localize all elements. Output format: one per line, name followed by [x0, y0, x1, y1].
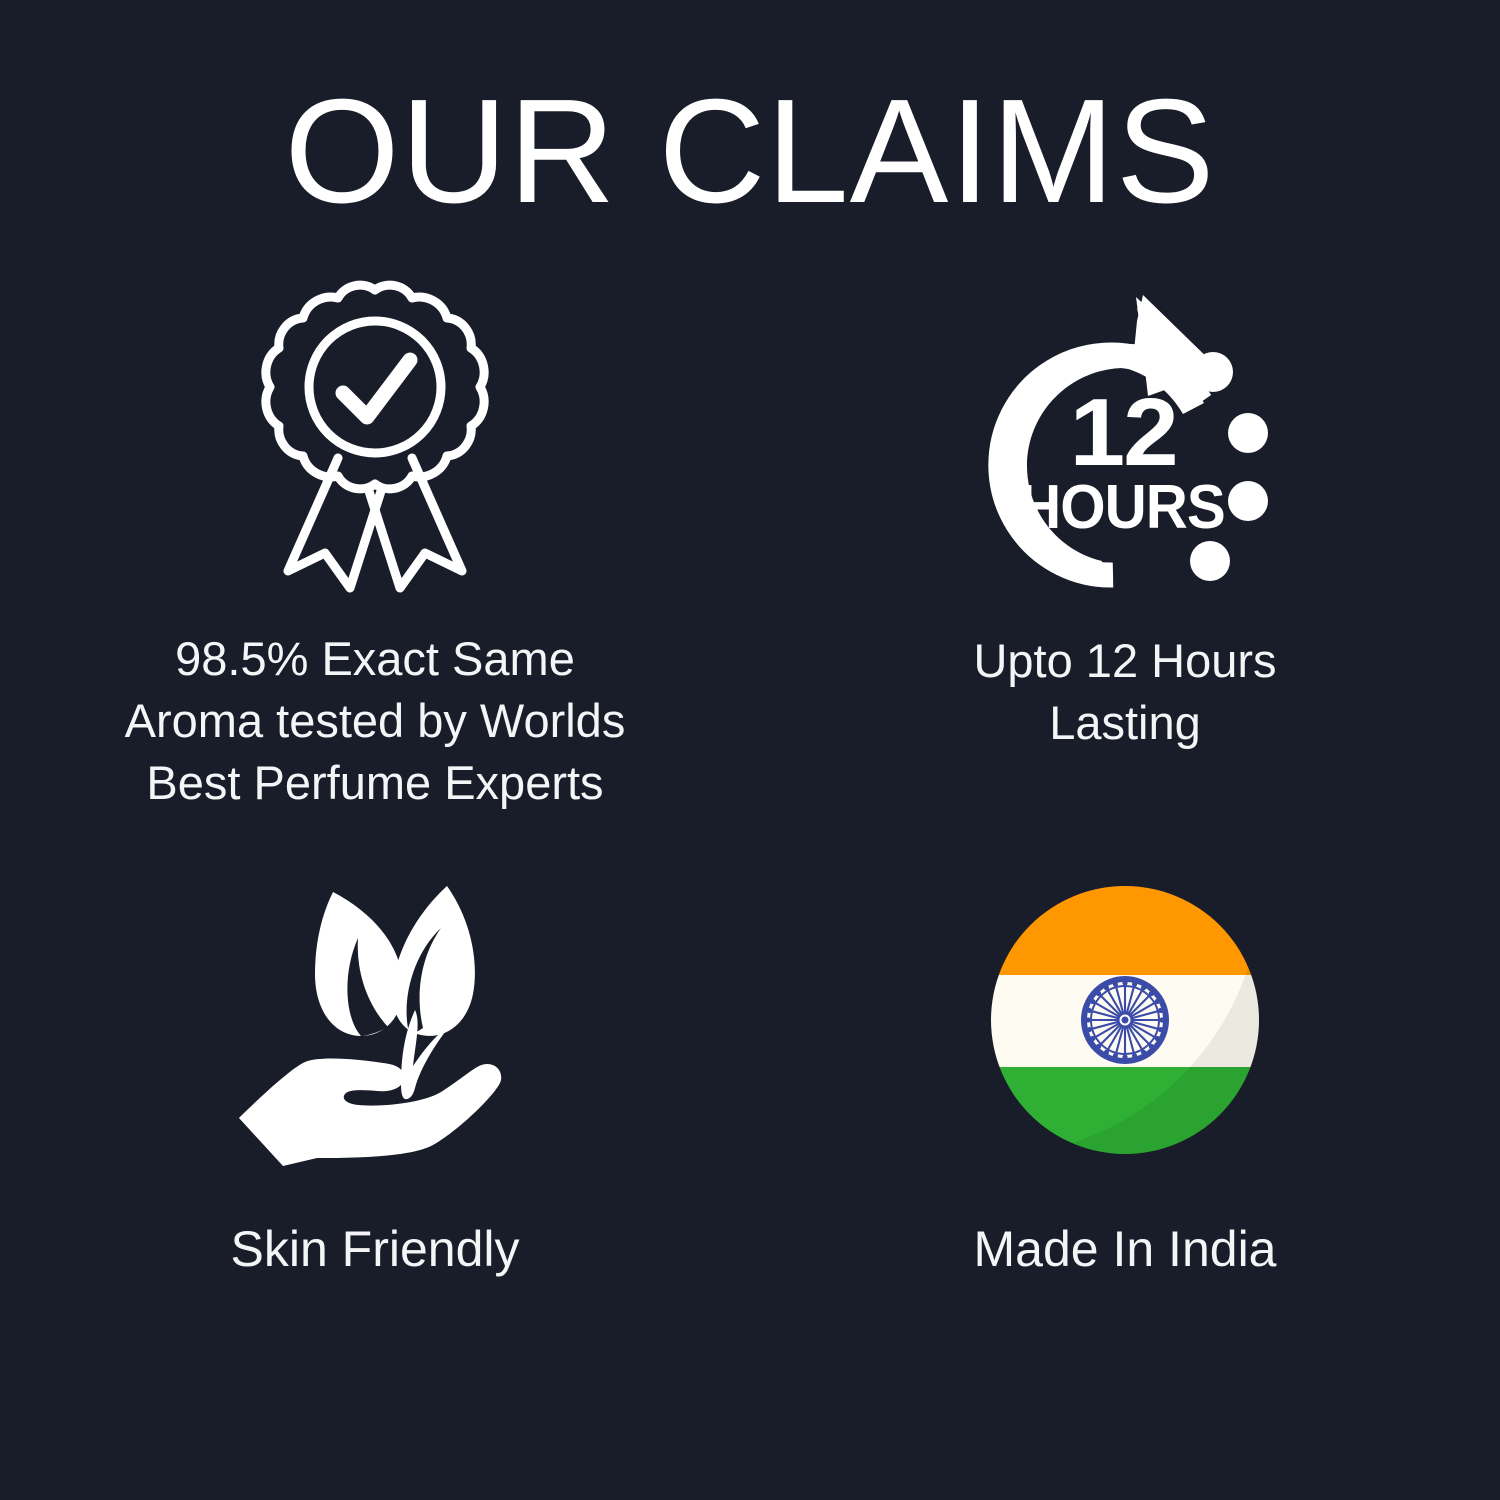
claim-caption: 98.5% Exact Same Aroma tested by Worlds … — [125, 628, 626, 814]
svg-text:HOURS: HOURS — [1019, 472, 1225, 541]
our-claims-panel: OUR CLAIMS — [0, 0, 1500, 1500]
india-flag-circle-icon — [989, 860, 1261, 1180]
claims-grid: 98.5% Exact Same Aroma tested by Worlds … — [0, 270, 1500, 1450]
claim-item-made-in-india: Made In India — [750, 860, 1500, 1450]
claim-caption: Upto 12 Hours Lasting — [973, 630, 1276, 754]
claim-item-aroma-accuracy: 98.5% Exact Same Aroma tested by Worlds … — [0, 270, 750, 860]
claim-caption: Made In India — [974, 1216, 1277, 1282]
12-hours-clock-arrow-icon: 12 HOURS — [965, 270, 1285, 600]
hand-holding-plant-icon — [225, 860, 525, 1180]
claim-item-long-lasting: 12 HOURS Upto 12 Hours Lasting — [750, 270, 1500, 860]
page-title: OUR CLAIMS — [0, 78, 1500, 226]
award-badge-check-icon — [250, 270, 500, 600]
svg-text:12: 12 — [1070, 378, 1177, 486]
claim-item-skin-friendly: Skin Friendly — [0, 860, 750, 1450]
claim-caption: Skin Friendly — [231, 1216, 520, 1282]
